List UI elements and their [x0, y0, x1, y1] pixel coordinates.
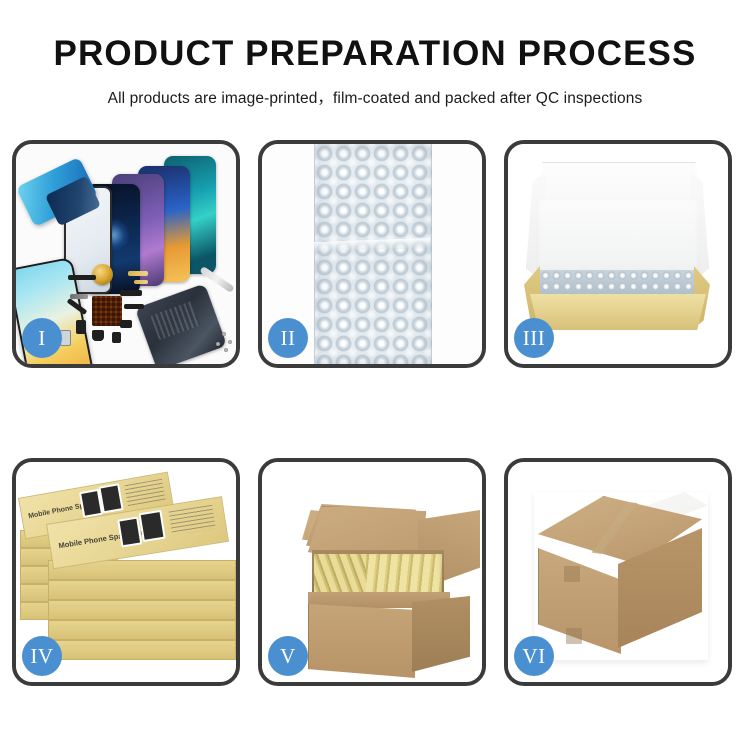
- flex-cable-part-2: [128, 271, 148, 276]
- carton-tab-upper: [564, 566, 580, 582]
- step-badge-2: II: [268, 318, 308, 358]
- carton-front-panel: [308, 604, 415, 678]
- box-printed-image-2: [98, 483, 123, 513]
- stack-box-side-b2: [48, 580, 236, 600]
- page-header: PRODUCT PREPARATION PROCESS All products…: [0, 0, 750, 108]
- box-front-panel: [530, 294, 706, 330]
- step-panel-5[interactable]: V: [258, 458, 486, 686]
- connector-part-2: [70, 294, 88, 299]
- process-steps-grid: I II III: [12, 140, 738, 686]
- step-badge-1: I: [22, 318, 62, 358]
- connector-part-3: [124, 304, 144, 309]
- step-badge-4: IV: [22, 636, 62, 676]
- step-panel-6[interactable]: VI: [504, 458, 732, 686]
- connector-part-1: [120, 290, 142, 296]
- small-component-5: [120, 320, 132, 328]
- chip-grid-part: [92, 296, 122, 326]
- box-printed-text-front: [169, 505, 216, 536]
- carton-tab-lower: [566, 628, 582, 644]
- box-printed-image-4: [138, 510, 165, 542]
- step-panel-3[interactable]: III: [504, 140, 732, 368]
- page-title: PRODUCT PREPARATION PROCESS: [0, 36, 750, 71]
- stack-box-side-b5: [48, 640, 236, 660]
- bubble-wrapped-item-in-box: [540, 270, 696, 298]
- small-component-4: [112, 332, 121, 343]
- step-badge-6: VI: [514, 636, 554, 676]
- step-panel-4[interactable]: Mobile Phone Spare Parts Mobile Phone Sp…: [12, 458, 240, 686]
- box-printed-text-rear: [124, 479, 165, 507]
- bubble-wrap-pouch: [314, 144, 432, 364]
- stack-box-side-b3: [48, 600, 236, 620]
- page-subtitle: All products are image-printed，film-coat…: [0, 86, 750, 108]
- step-panel-1[interactable]: I: [12, 140, 240, 368]
- box-printed-image-3: [117, 517, 142, 548]
- small-component-1: [76, 320, 86, 334]
- small-component-2: [92, 330, 104, 341]
- flex-cable-part-1: [68, 275, 96, 280]
- step-badge-3: III: [514, 318, 554, 358]
- stack-box-side-b4: [48, 620, 236, 640]
- step-panel-2[interactable]: II: [258, 140, 486, 368]
- flex-cable-part-3: [134, 280, 148, 284]
- step-badge-5: V: [268, 636, 308, 676]
